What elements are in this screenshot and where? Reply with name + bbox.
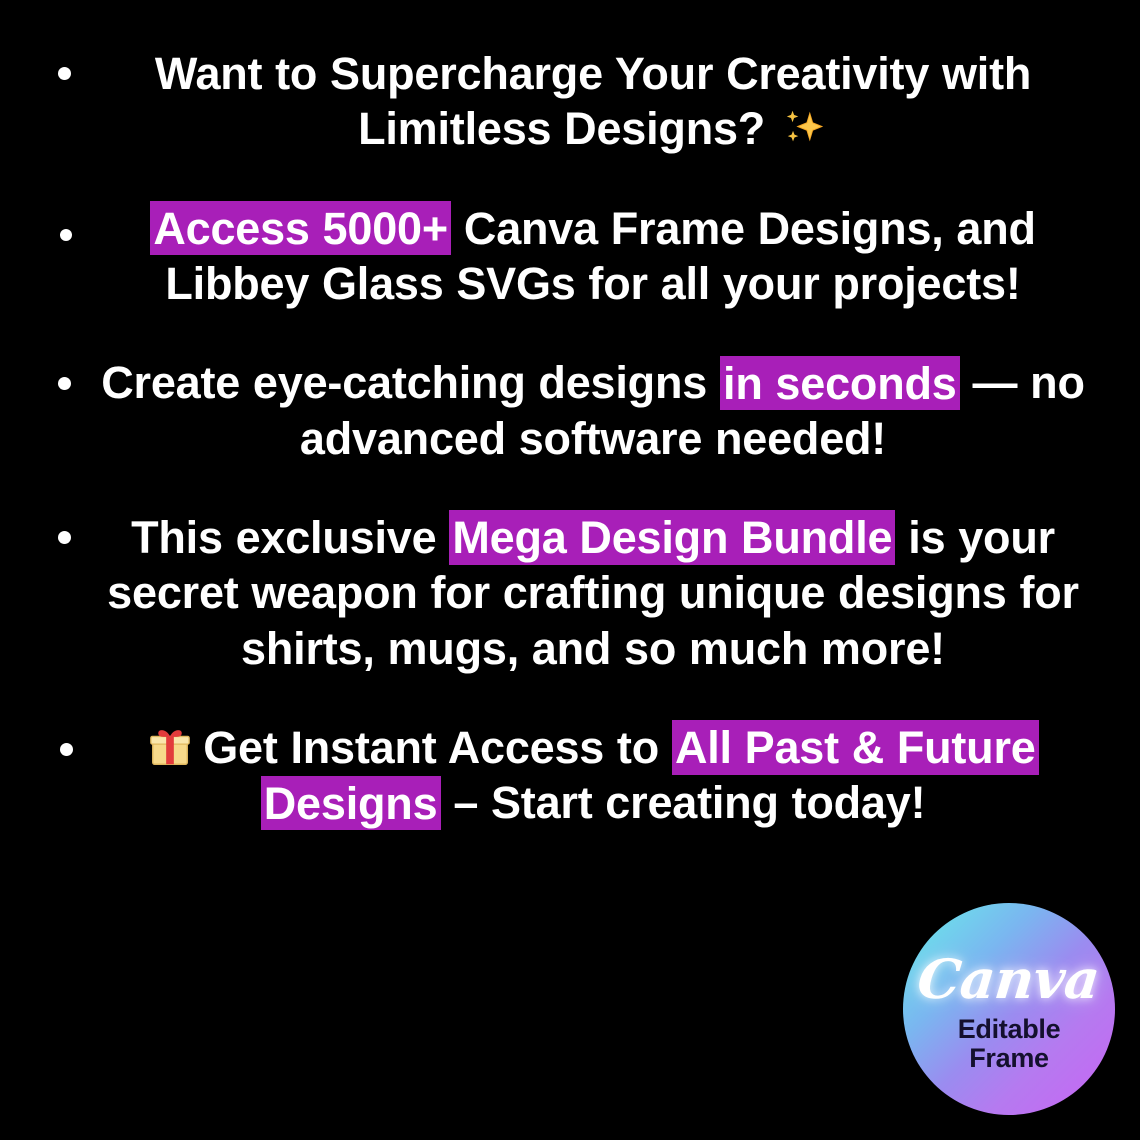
promo-graphic: Want to Supercharge Your Creativity with…	[0, 0, 1140, 1140]
bullet-dot-icon	[60, 743, 73, 756]
bullet-text-this-exclusive: This exclusive	[131, 512, 449, 563]
bullet-dot-icon	[58, 377, 71, 390]
list-item: Create eye-catching designs in seconds —…	[40, 355, 1100, 466]
gift-emoji	[147, 724, 193, 770]
list-item: Get Instant Access to All Past & Future …	[40, 720, 1100, 831]
bullet-text-get-instant-access: Get Instant Access to	[203, 722, 672, 773]
bullet-dot-icon	[60, 229, 72, 241]
bullet-dot-icon	[58, 531, 71, 544]
badge-subtitle: Editable Frame	[958, 1015, 1061, 1072]
bullet-text-create: Create eye-catching designs	[101, 357, 720, 408]
canva-editable-frame-badge: Canva Editable Frame	[903, 903, 1115, 1115]
list-item: This exclusive Mega Design Bundle is you…	[40, 510, 1100, 676]
list-item: Want to Supercharge Your Creativity with…	[40, 46, 1100, 157]
highlight-mega-design-bundle: Mega Design Bundle	[449, 510, 895, 565]
bullet-text-start-creating: – Start creating today!	[441, 777, 926, 828]
sparkles-emoji	[782, 104, 828, 150]
badge-subtitle-line1: Editable	[958, 1015, 1061, 1044]
badge-subtitle-line2: Frame	[958, 1044, 1061, 1073]
list-item: Access 5000+ Canva Frame Designs, and Li…	[40, 201, 1100, 312]
canva-brand-wordmark: Canva	[916, 952, 1103, 1006]
bullet-text-supercharge: Want to Supercharge Your Creativity with…	[155, 48, 1031, 154]
benefit-bullet-list: Want to Supercharge Your Creativity with…	[40, 46, 1100, 831]
highlight-in-seconds: in seconds	[720, 356, 960, 411]
highlight-access-5000: Access 5000+	[150, 201, 451, 256]
bullet-dot-icon	[58, 67, 71, 80]
